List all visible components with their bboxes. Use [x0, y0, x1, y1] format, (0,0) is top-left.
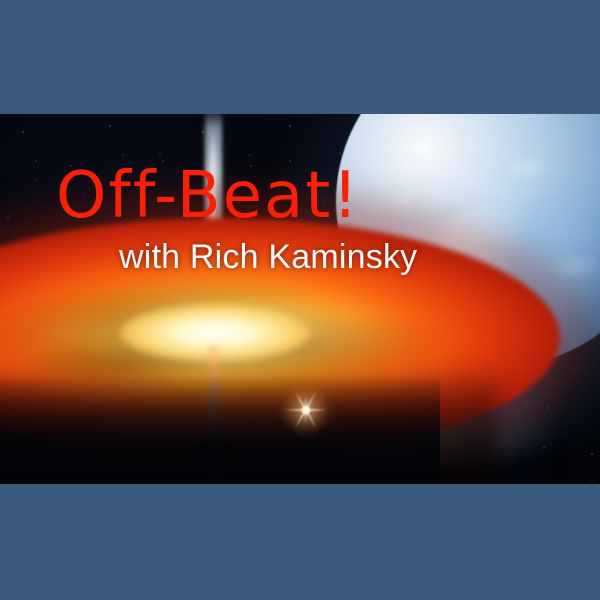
flare-star — [298, 402, 314, 418]
lower-space-haze — [0, 374, 440, 484]
letterbox-bar-top — [0, 0, 600, 114]
letterbox-bar-bottom — [0, 484, 600, 600]
flare-star-point — [301, 405, 311, 415]
space-illustration — [0, 114, 600, 484]
podcast-cover-artwork: Off-Beat! with Rich Kaminsky — [0, 0, 600, 600]
